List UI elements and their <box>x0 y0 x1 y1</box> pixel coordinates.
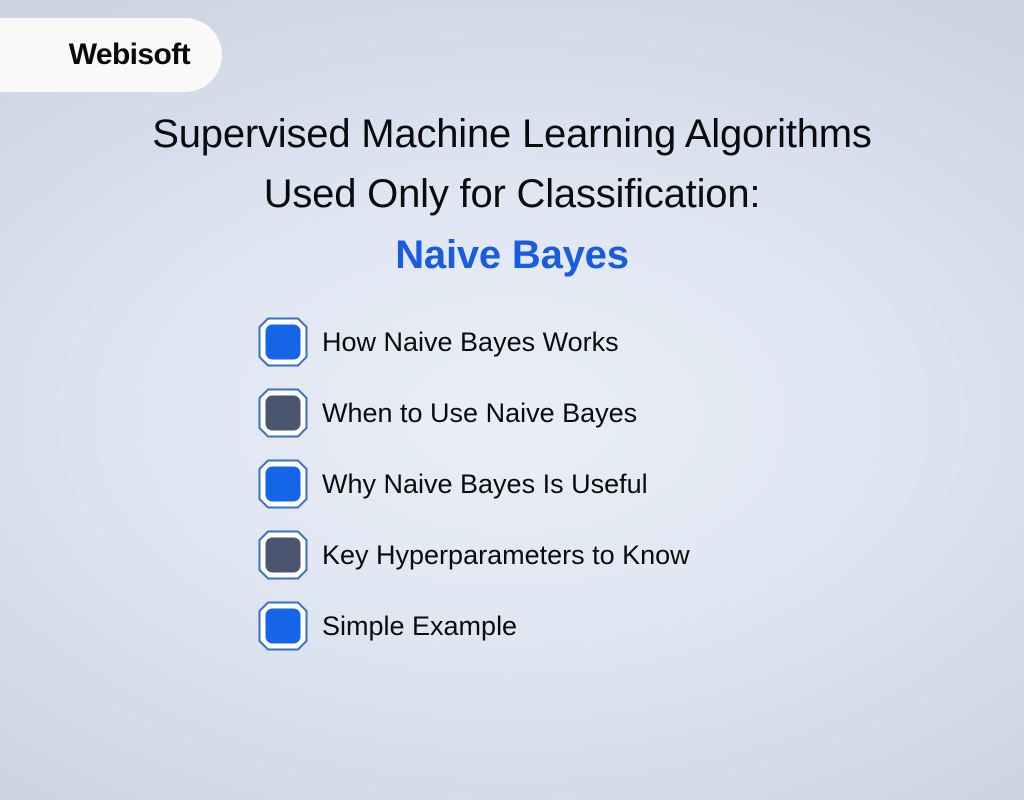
list-item: Key Hyperparameters to Know <box>258 529 998 581</box>
list-item-label: How Naive Bayes Works <box>322 326 619 358</box>
topic-list: How Naive Bayes Works When to Use Naive … <box>258 316 998 652</box>
list-item-label: When to Use Naive Bayes <box>322 397 637 429</box>
square-bullet-icon <box>258 388 308 438</box>
brand-logo-pill: Webisoft <box>0 18 222 92</box>
list-item: How Naive Bayes Works <box>258 316 998 368</box>
square-bullet-icon <box>258 459 308 509</box>
title-line-1: Supervised Machine Learning Algorithms <box>0 104 1024 164</box>
square-bullet-icon <box>258 317 308 367</box>
square-bullet-icon <box>258 530 308 580</box>
list-item: Simple Example <box>258 600 998 652</box>
page-title: Supervised Machine Learning Algorithms U… <box>0 104 1024 286</box>
list-item-label: Key Hyperparameters to Know <box>322 539 690 571</box>
brand-name: Webisoft <box>69 40 190 70</box>
list-item-label: Why Naive Bayes Is Useful <box>322 468 648 500</box>
list-item: When to Use Naive Bayes <box>258 387 998 439</box>
title-highlight: Naive Bayes <box>0 224 1024 286</box>
list-item: Why Naive Bayes Is Useful <box>258 458 998 510</box>
title-line-2: Used Only for Classification: <box>0 164 1024 224</box>
square-bullet-icon <box>258 601 308 651</box>
slide-canvas: Webisoft Supervised Machine Learning Alg… <box>0 0 1024 800</box>
list-item-label: Simple Example <box>322 610 517 642</box>
